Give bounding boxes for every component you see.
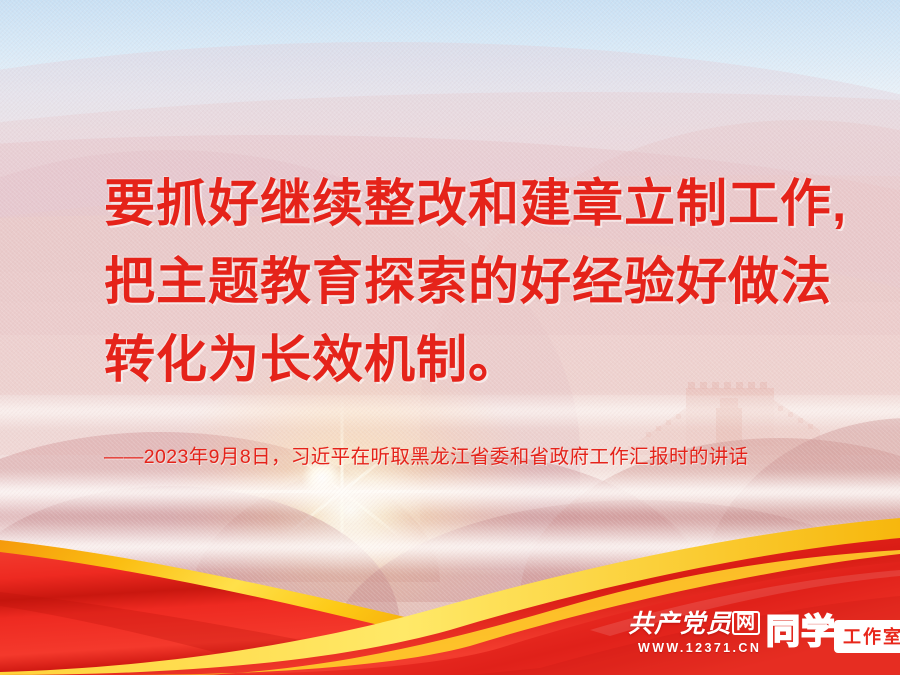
attribution-text: ——2023年9月8日，习近平在听取黑龙江省委和省政府工作汇报时的讲话	[104, 440, 749, 469]
quote-line-2: 把主题教育探索的好经验好做法	[104, 243, 864, 321]
logo-12371[interactable]: 共产党员网 WWW.12371.CN	[628, 609, 754, 655]
studio-outline-text: 同学	[766, 612, 836, 652]
quote-line-1: 要抓好继续整改和建章立制工作,	[104, 165, 864, 243]
brand-suffix-box: 网	[732, 611, 760, 635]
poster-canvas: 要抓好继续整改和建章立制工作, 把主题教育探索的好经验好做法 转化为长效机制。 …	[0, 0, 900, 675]
logo-studio[interactable]: 同学 工作室	[766, 611, 900, 653]
studio-pill-label: 工作室	[834, 620, 900, 653]
brand-url: WWW.12371.CN	[638, 641, 754, 655]
red-ribbon-footer	[0, 500, 900, 675]
brand-name-text: 共产党员	[628, 609, 732, 638]
brand-name: 共产党员网	[628, 609, 754, 639]
quote-line-3: 转化为长效机制。	[104, 321, 864, 399]
quote-text: 要抓好继续整改和建章立制工作, 把主题教育探索的好经验好做法 转化为长效机制。	[104, 165, 864, 399]
